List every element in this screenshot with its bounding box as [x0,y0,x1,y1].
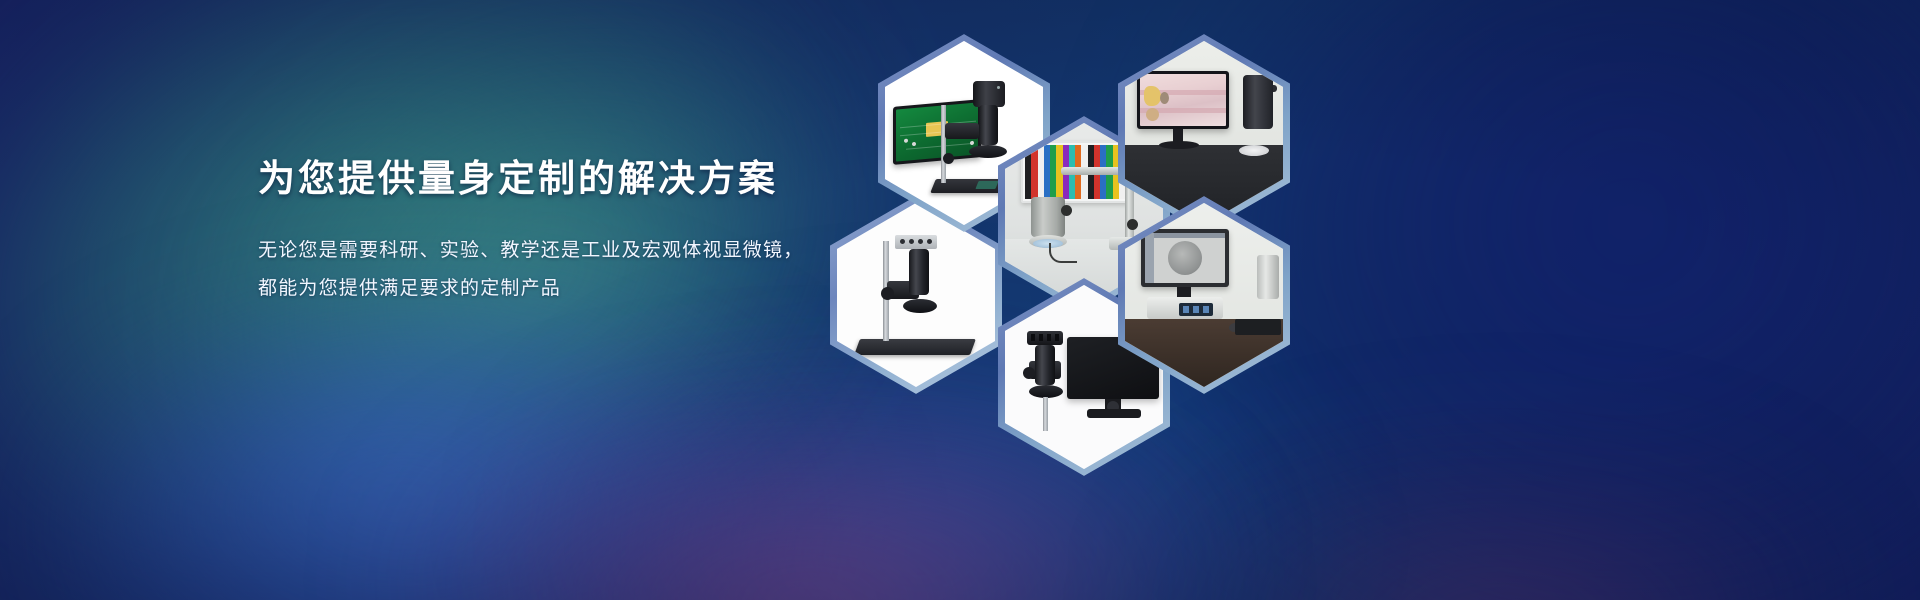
microscope-stage-plate [975,181,998,189]
microscope-base [854,339,976,355]
stereo-microscope-head [1031,197,1065,237]
tissue-image [1140,74,1226,126]
microscope-focus-knob [1023,367,1035,379]
monitor-stand-foot [1159,141,1199,149]
microscope-tube [909,249,929,295]
camera-head [1027,331,1063,345]
micrograph-image [1145,233,1225,283]
software-sidebar [1145,233,1154,283]
microscope-focus-knob [943,153,954,164]
microscope-control-box [895,235,937,249]
microscope-focus-knob [881,287,894,300]
microscope-tube [979,105,998,145]
banner-subtitle-line-1: 无论您是需要科研、实验、教学还是工业及宏观体视显微镜， [258,232,918,270]
bench-mat [1235,319,1281,335]
power-cable [1049,243,1077,263]
microscope-camera-head [973,81,1005,107]
microscope-post [941,105,946,183]
control-panel [1179,303,1213,316]
camera-indicator [997,86,1000,89]
circular-micrograph [1168,241,1202,275]
side-microscope [1257,255,1279,299]
microscope-light-ring [969,145,1007,158]
monitor-foot [1087,409,1141,418]
head-mount-joint [1061,205,1072,216]
banner-subtitle-line-2: 都能为您提供满足要求的定制产品 [258,270,918,308]
hexagon-product-cluster [820,0,1350,600]
hero-banner: 为您提供量身定制的解决方案 无论您是需要科研、实验、教学还是工业及宏观体视显微镜… [0,0,1920,600]
microscope-tube [1035,345,1055,385]
sample-dish [1239,145,1269,156]
boom-joint-lower [1127,219,1138,230]
banner-copy-block: 为您提供量身定制的解决方案 无论您是需要科研、实验、教学还是工业及宏观体视显微镜… [258,148,918,308]
sample-monitor [1137,71,1229,129]
banner-headline: 为您提供量身定制的解决方案 [258,148,918,202]
microscope-body [1243,75,1273,129]
microscope-light-ring [903,299,937,313]
microscope-focus-arm [945,123,979,139]
software-toolbar [1145,233,1225,238]
hexagon-frosted-left [830,196,1002,394]
measurement-monitor [1141,229,1229,287]
stand-pole [1043,397,1048,431]
monitor-neck [1177,287,1191,297]
